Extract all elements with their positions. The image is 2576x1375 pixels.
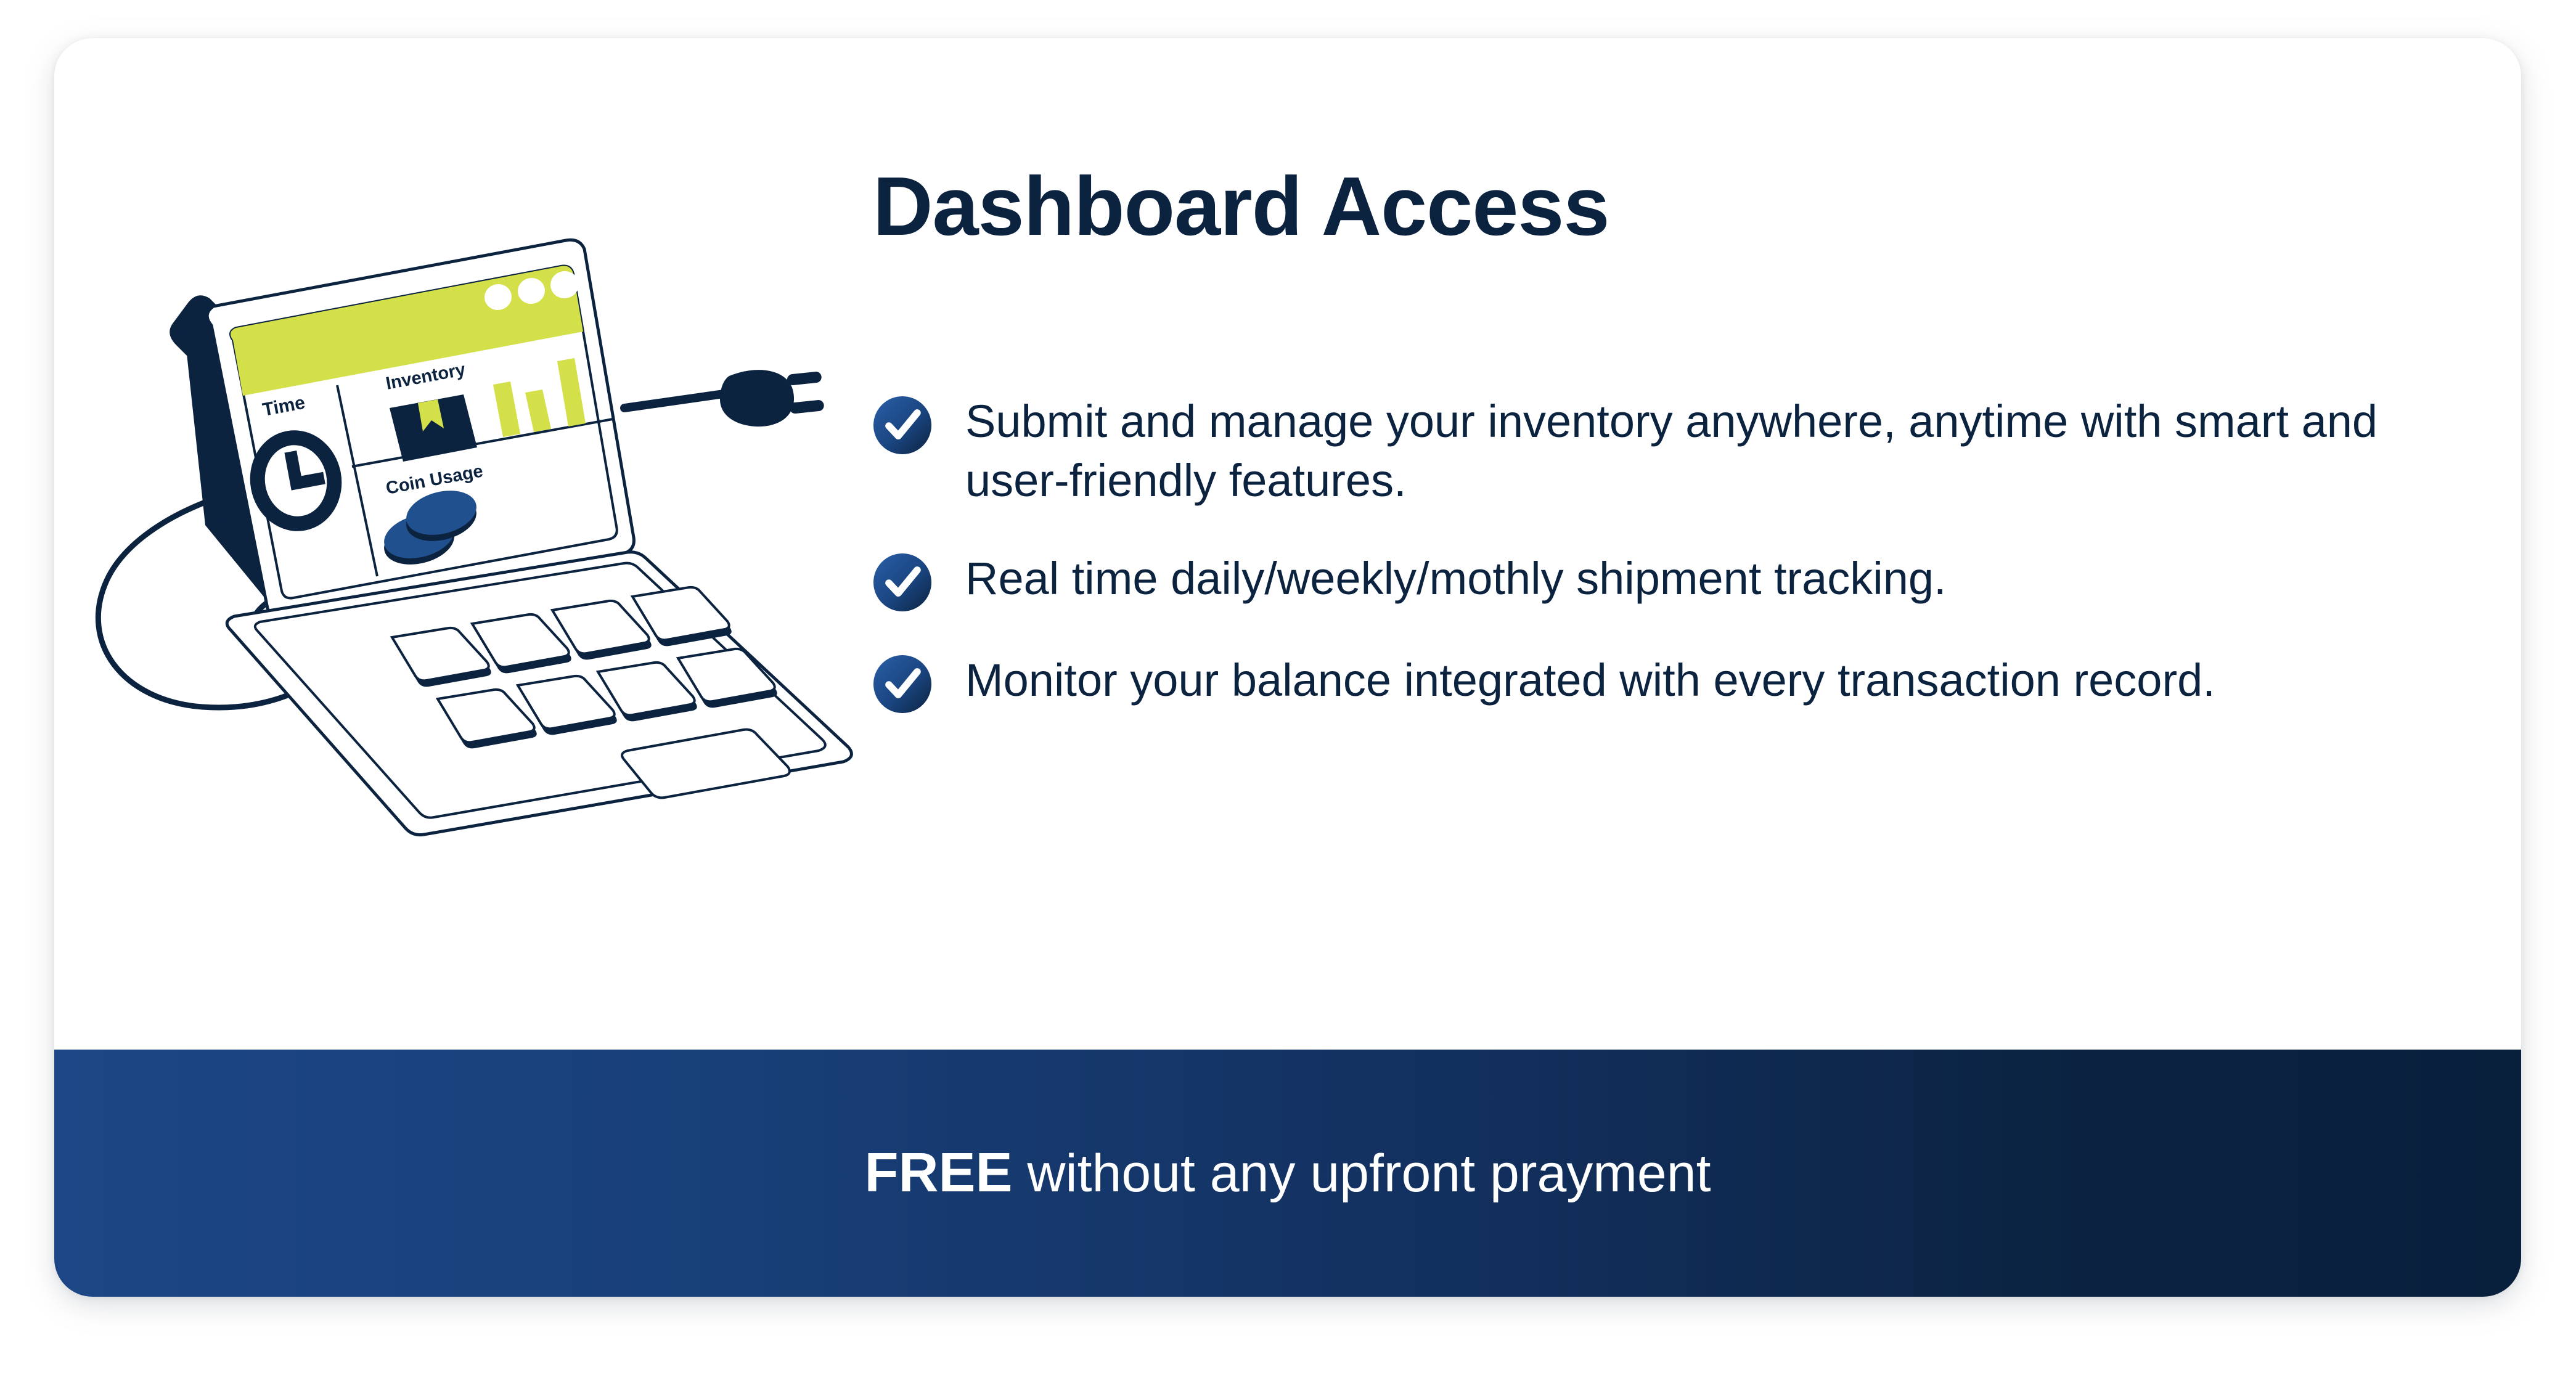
banner-emphasis: FREE bbox=[865, 1142, 1013, 1204]
feature-card: Time Inventory bbox=[54, 38, 2521, 1297]
list-item: Submit and manage your inventory anywher… bbox=[873, 392, 2488, 510]
power-plug-icon bbox=[624, 370, 825, 426]
list-item-label: Submit and manage your inventory anywher… bbox=[965, 392, 2457, 510]
list-item: Monitor your balance integrated with eve… bbox=[873, 651, 2488, 714]
text-column: Dashboard Access bbox=[873, 38, 2488, 1050]
page-title: Dashboard Access bbox=[873, 165, 1609, 248]
feature-list: Submit and manage your inventory anywher… bbox=[873, 392, 2488, 714]
list-item: Real time daily/weekly/mothly shipment t… bbox=[873, 549, 2488, 612]
check-circle-icon bbox=[873, 396, 932, 455]
laptop-dashboard-illustration: Time Inventory bbox=[79, 205, 856, 858]
list-item-label: Monitor your balance integrated with eve… bbox=[965, 651, 2215, 710]
check-circle-icon bbox=[873, 655, 932, 714]
list-item-label: Real time daily/weekly/mothly shipment t… bbox=[965, 549, 1947, 608]
screenshot-root: Time Inventory bbox=[0, 0, 2576, 1375]
banner-rest: without any upfront prayment bbox=[1013, 1144, 1711, 1203]
card-content: Time Inventory bbox=[54, 38, 2521, 1050]
banner-text: FREE without any upfront prayment bbox=[865, 1141, 1711, 1205]
check-circle-icon bbox=[873, 553, 932, 612]
pricing-banner: FREE without any upfront prayment bbox=[54, 1050, 2521, 1297]
